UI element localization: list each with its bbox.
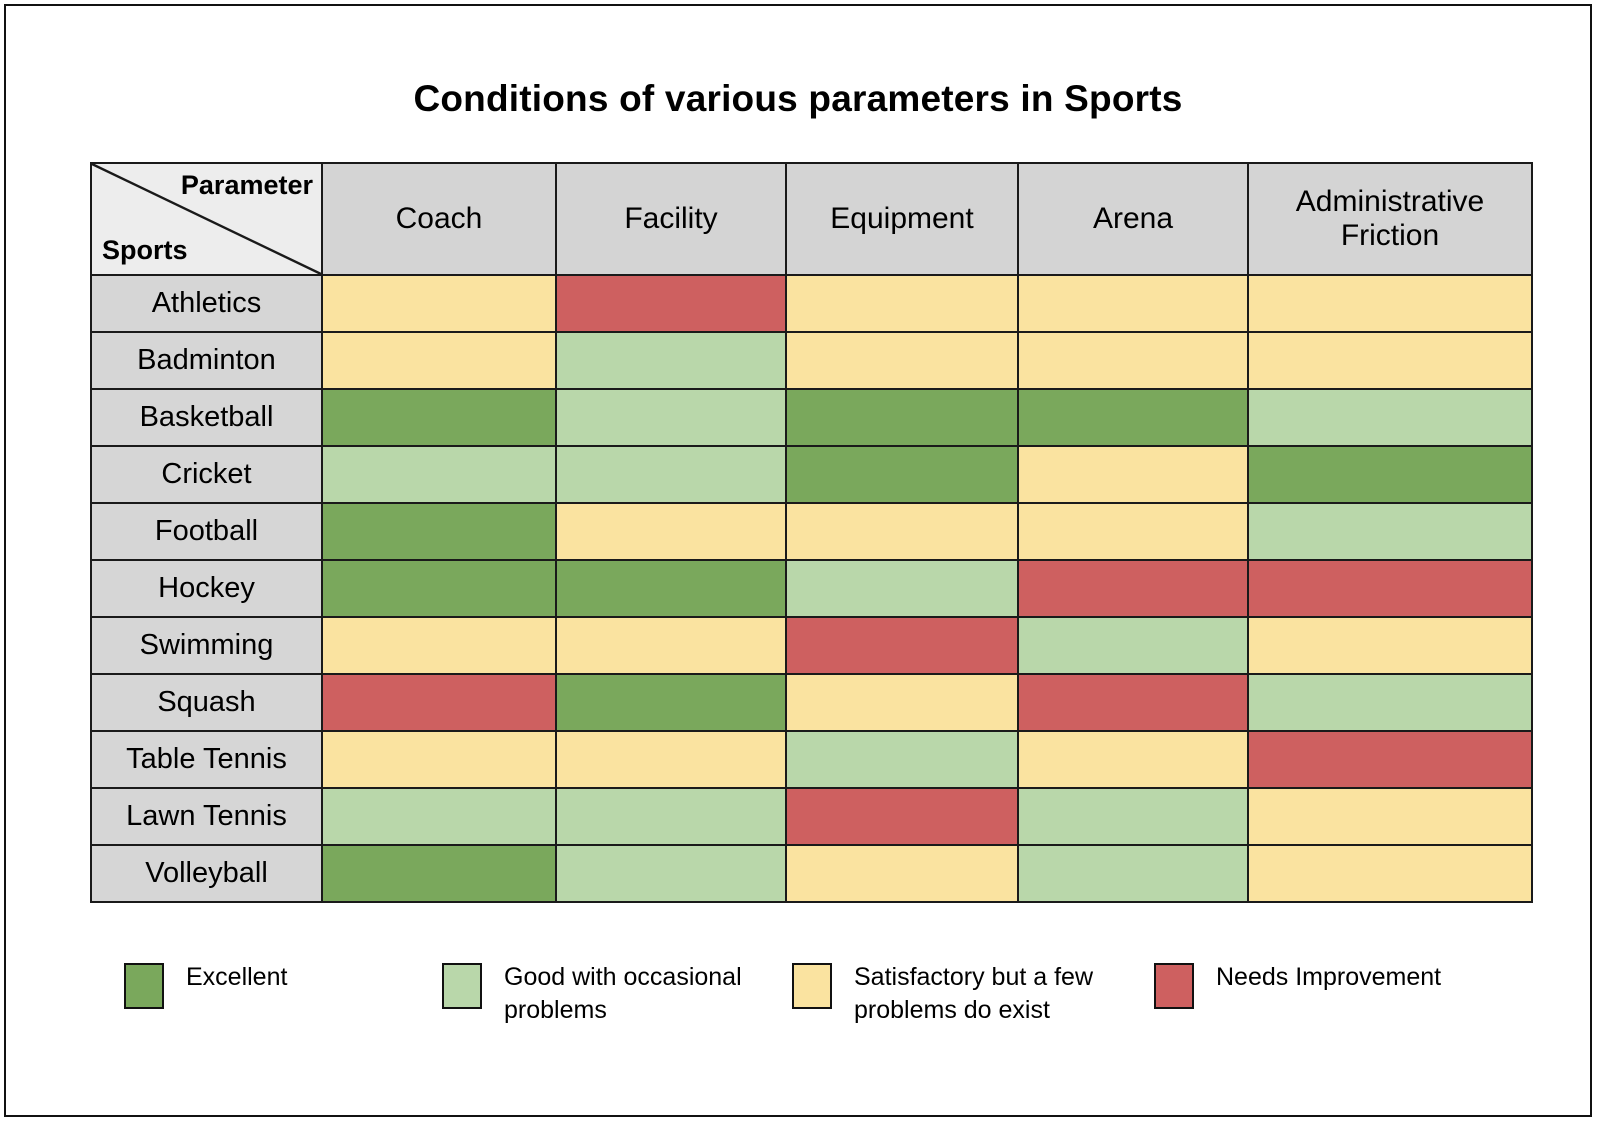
row-header-cricket: Cricket bbox=[91, 446, 322, 503]
cell-volleyball-facility bbox=[556, 845, 786, 902]
cell-badminton-arena bbox=[1018, 332, 1248, 389]
cell-hockey-facility bbox=[556, 560, 786, 617]
cell-football-facility bbox=[556, 503, 786, 560]
cell-football-arena bbox=[1018, 503, 1248, 560]
table-row: Basketball bbox=[91, 389, 1532, 446]
column-axis-label: Parameter bbox=[181, 170, 313, 201]
cell-basketball-equipment bbox=[786, 389, 1018, 446]
cell-football-administrative-friction bbox=[1248, 503, 1532, 560]
page-title: Conditions of various parameters in Spor… bbox=[6, 78, 1590, 120]
cell-cricket-equipment bbox=[786, 446, 1018, 503]
legend-swatch-needs bbox=[1154, 963, 1194, 1009]
row-header-basketball: Basketball bbox=[91, 389, 322, 446]
cell-cricket-coach bbox=[322, 446, 556, 503]
cell-swimming-equipment bbox=[786, 617, 1018, 674]
row-header-lawn-tennis: Lawn Tennis bbox=[91, 788, 322, 845]
cell-volleyball-arena bbox=[1018, 845, 1248, 902]
table-row: Swimming bbox=[91, 617, 1532, 674]
cell-badminton-administrative-friction bbox=[1248, 332, 1532, 389]
column-header-coach: Coach bbox=[322, 163, 556, 275]
cell-hockey-arena bbox=[1018, 560, 1248, 617]
legend-item-excellent: Excellent bbox=[124, 961, 442, 1009]
cell-table-tennis-arena bbox=[1018, 731, 1248, 788]
legend-swatch-good bbox=[442, 963, 482, 1009]
row-header-squash: Squash bbox=[91, 674, 322, 731]
table-row: Volleyball bbox=[91, 845, 1532, 902]
cell-badminton-facility bbox=[556, 332, 786, 389]
column-header-administrative-friction: Administrative Friction bbox=[1248, 163, 1532, 275]
legend-label-excellent: Excellent bbox=[186, 961, 287, 994]
cell-lawn-tennis-facility bbox=[556, 788, 786, 845]
cell-football-coach bbox=[322, 503, 556, 560]
corner-axis-cell: Parameter Sports bbox=[91, 163, 322, 275]
cell-lawn-tennis-administrative-friction bbox=[1248, 788, 1532, 845]
cell-athletics-equipment bbox=[786, 275, 1018, 332]
cell-basketball-arena bbox=[1018, 389, 1248, 446]
cell-basketball-facility bbox=[556, 389, 786, 446]
cell-athletics-facility bbox=[556, 275, 786, 332]
table-row: Hockey bbox=[91, 560, 1532, 617]
cell-football-equipment bbox=[786, 503, 1018, 560]
legend-item-satisfactory: Satisfactory but a few problems do exist bbox=[792, 961, 1154, 1026]
cell-cricket-arena bbox=[1018, 446, 1248, 503]
cell-cricket-facility bbox=[556, 446, 786, 503]
table-body: AthleticsBadmintonBasketballCricketFootb… bbox=[91, 275, 1532, 902]
cell-lawn-tennis-coach bbox=[322, 788, 556, 845]
cell-squash-arena bbox=[1018, 674, 1248, 731]
table-header: Parameter Sports Coach Facility Equipmen… bbox=[91, 163, 1532, 275]
cell-table-tennis-equipment bbox=[786, 731, 1018, 788]
table-row: Lawn Tennis bbox=[91, 788, 1532, 845]
cell-lawn-tennis-arena bbox=[1018, 788, 1248, 845]
legend-label-satisfactory: Satisfactory but a few problems do exist bbox=[854, 961, 1122, 1026]
cell-table-tennis-administrative-friction bbox=[1248, 731, 1532, 788]
table-row: Squash bbox=[91, 674, 1532, 731]
cell-basketball-administrative-friction bbox=[1248, 389, 1532, 446]
row-header-badminton: Badminton bbox=[91, 332, 322, 389]
cell-swimming-coach bbox=[322, 617, 556, 674]
cell-swimming-administrative-friction bbox=[1248, 617, 1532, 674]
cell-squash-coach bbox=[322, 674, 556, 731]
column-header-equipment: Equipment bbox=[786, 163, 1018, 275]
row-axis-label: Sports bbox=[102, 235, 188, 266]
figure-frame: Conditions of various parameters in Spor… bbox=[4, 4, 1592, 1117]
legend-label-needs: Needs Improvement bbox=[1216, 961, 1441, 994]
row-header-football: Football bbox=[91, 503, 322, 560]
cell-lawn-tennis-equipment bbox=[786, 788, 1018, 845]
legend-swatch-satisfactory bbox=[792, 963, 832, 1009]
cell-athletics-coach bbox=[322, 275, 556, 332]
cell-volleyball-coach bbox=[322, 845, 556, 902]
table-row: Table Tennis bbox=[91, 731, 1532, 788]
cell-volleyball-equipment bbox=[786, 845, 1018, 902]
table-row: Athletics bbox=[91, 275, 1532, 332]
cell-volleyball-administrative-friction bbox=[1248, 845, 1532, 902]
row-header-hockey: Hockey bbox=[91, 560, 322, 617]
cell-swimming-facility bbox=[556, 617, 786, 674]
cell-squash-equipment bbox=[786, 674, 1018, 731]
column-header-facility: Facility bbox=[556, 163, 786, 275]
legend-item-good: Good with occasional problems bbox=[442, 961, 792, 1026]
legend: ExcellentGood with occasional problemsSa… bbox=[124, 961, 1504, 1026]
cell-squash-facility bbox=[556, 674, 786, 731]
row-header-table-tennis: Table Tennis bbox=[91, 731, 322, 788]
row-header-volleyball: Volleyball bbox=[91, 845, 322, 902]
cell-cricket-administrative-friction bbox=[1248, 446, 1532, 503]
cell-basketball-coach bbox=[322, 389, 556, 446]
table-row: Badminton bbox=[91, 332, 1532, 389]
cell-badminton-equipment bbox=[786, 332, 1018, 389]
row-header-athletics: Athletics bbox=[91, 275, 322, 332]
cell-athletics-administrative-friction bbox=[1248, 275, 1532, 332]
cell-swimming-arena bbox=[1018, 617, 1248, 674]
cell-athletics-arena bbox=[1018, 275, 1248, 332]
header-row: Parameter Sports Coach Facility Equipmen… bbox=[91, 163, 1532, 275]
conditions-matrix-table: Parameter Sports Coach Facility Equipmen… bbox=[90, 162, 1533, 903]
column-header-arena: Arena bbox=[1018, 163, 1248, 275]
cell-badminton-coach bbox=[322, 332, 556, 389]
row-header-swimming: Swimming bbox=[91, 617, 322, 674]
cell-table-tennis-facility bbox=[556, 731, 786, 788]
legend-item-needs: Needs Improvement bbox=[1154, 961, 1454, 1009]
cell-hockey-coach bbox=[322, 560, 556, 617]
table-row: Cricket bbox=[91, 446, 1532, 503]
cell-hockey-equipment bbox=[786, 560, 1018, 617]
cell-table-tennis-coach bbox=[322, 731, 556, 788]
legend-label-good: Good with occasional problems bbox=[504, 961, 772, 1026]
cell-squash-administrative-friction bbox=[1248, 674, 1532, 731]
cell-hockey-administrative-friction bbox=[1248, 560, 1532, 617]
table-row: Football bbox=[91, 503, 1532, 560]
legend-swatch-excellent bbox=[124, 963, 164, 1009]
